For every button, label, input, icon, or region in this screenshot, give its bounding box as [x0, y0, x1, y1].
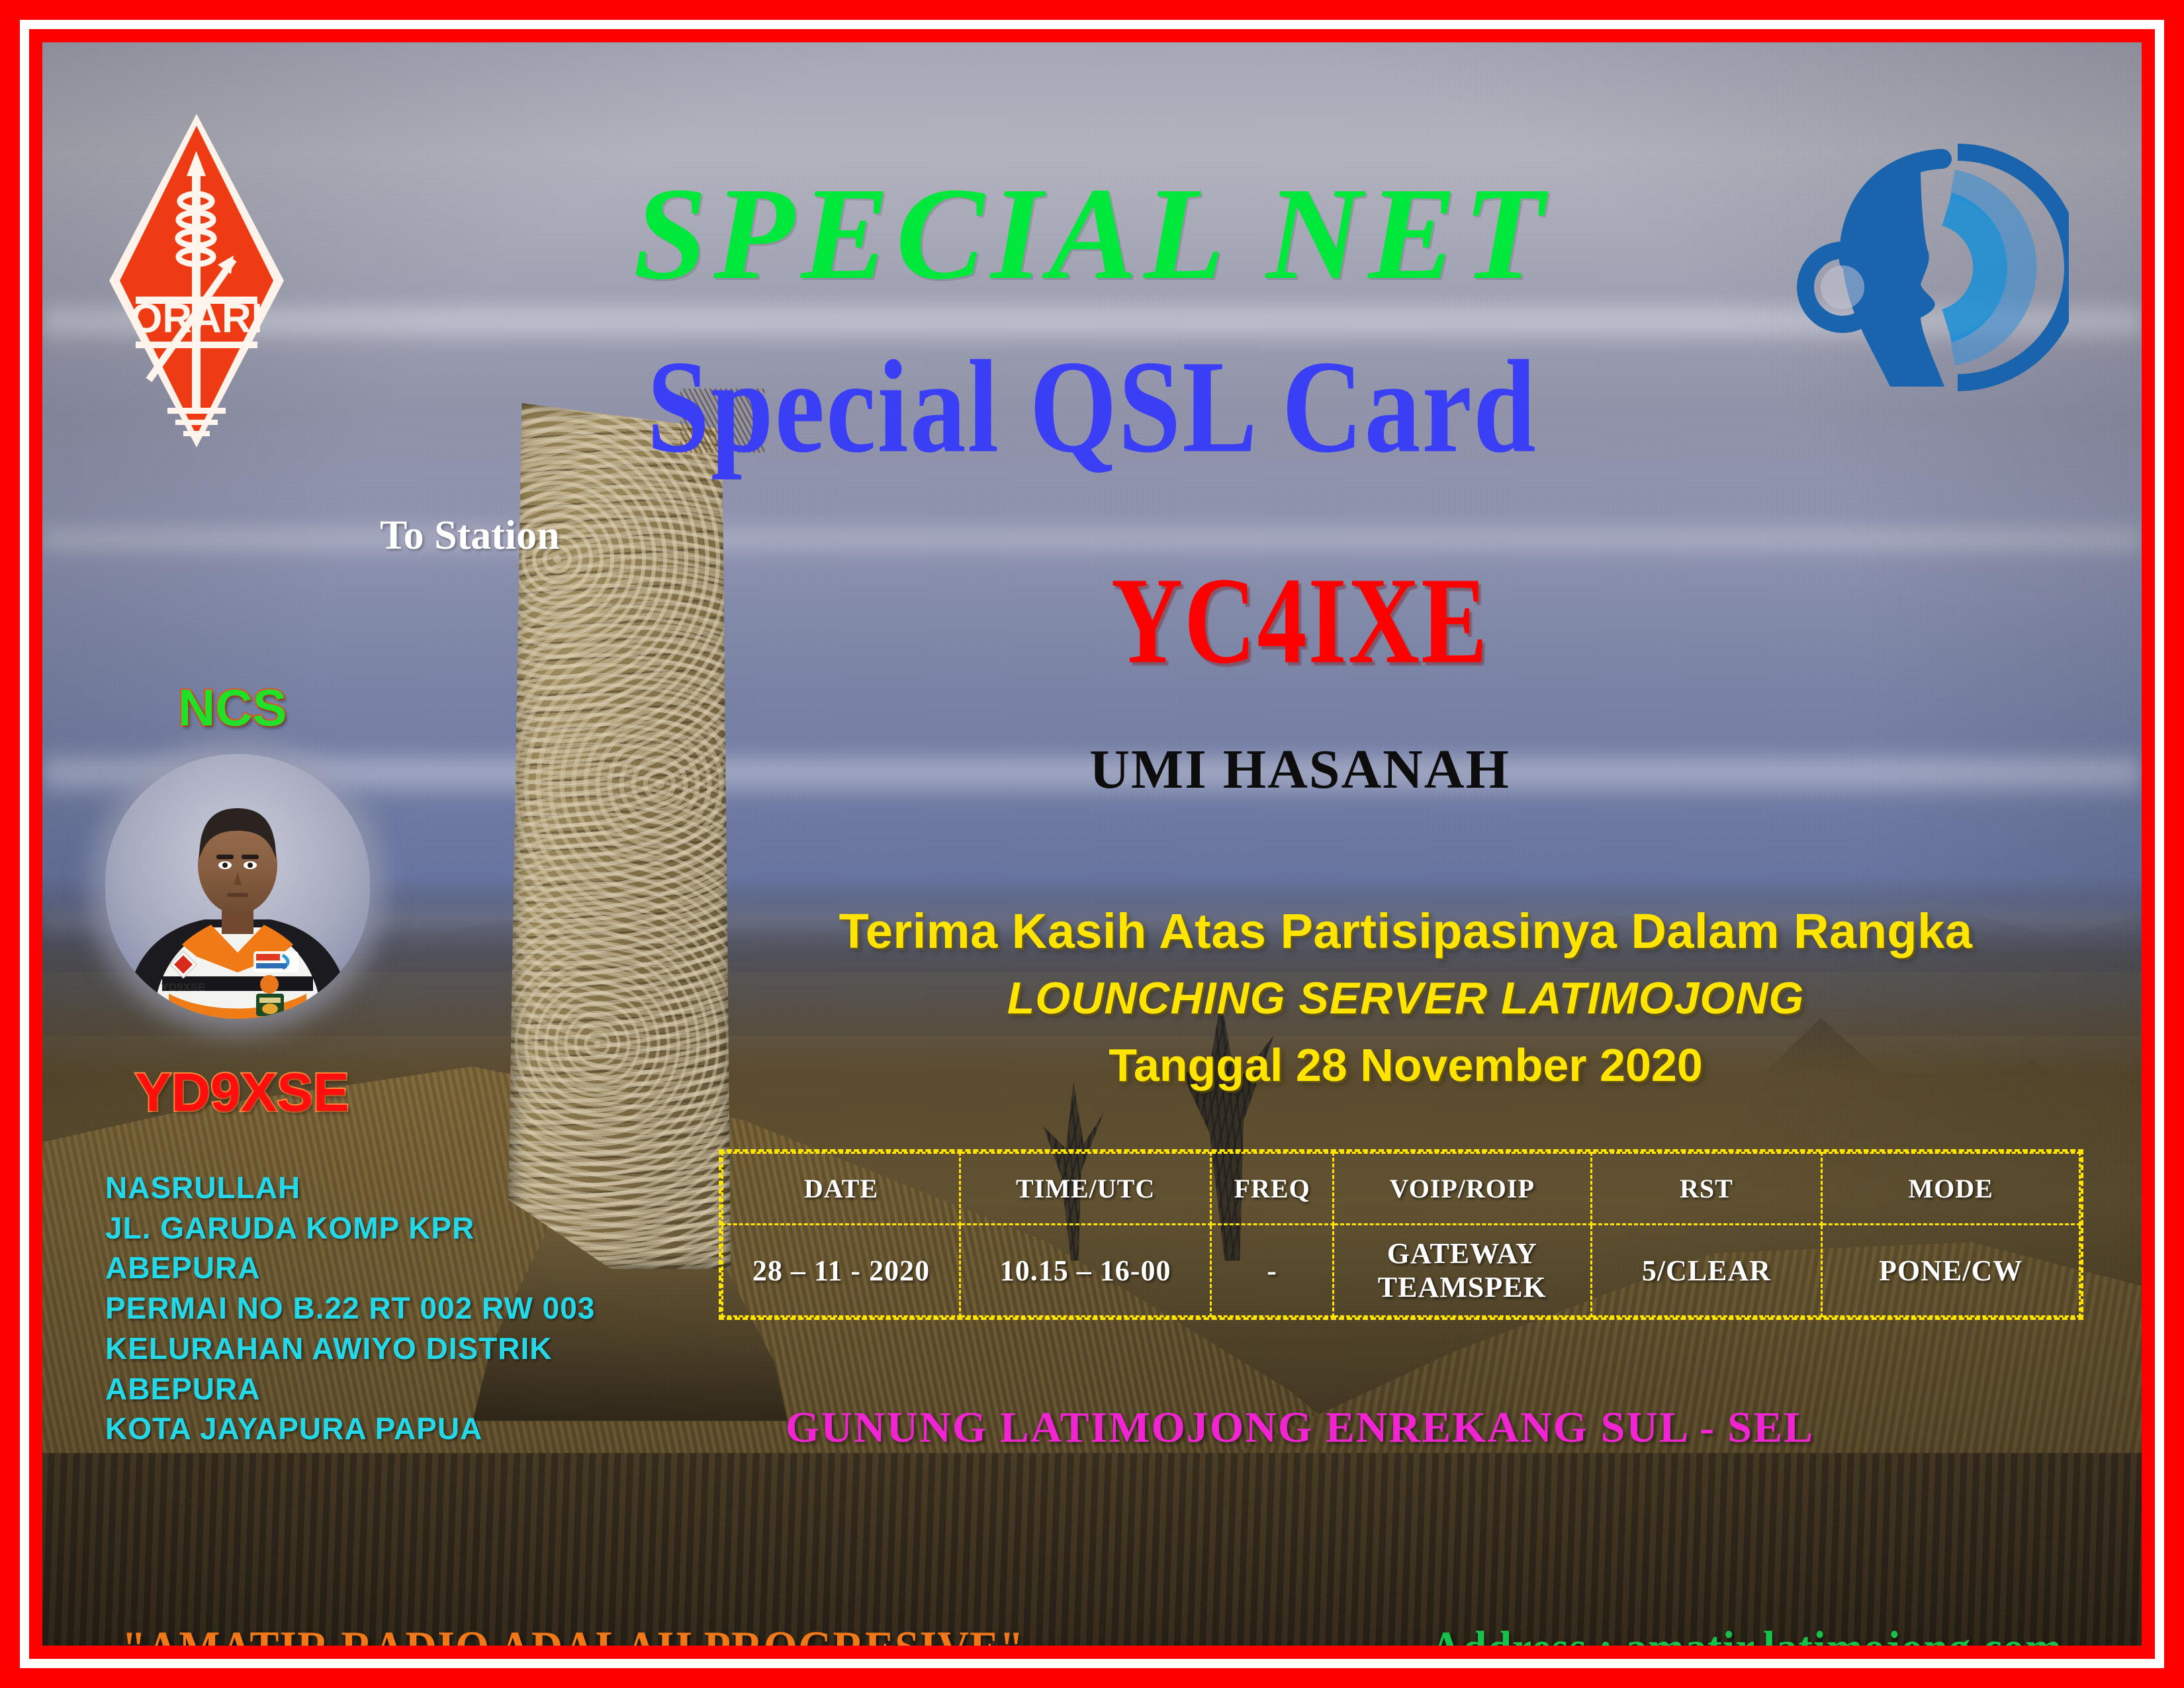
cell-date: 28 – 11 - 2020 [723, 1225, 960, 1317]
page-title: SPECIAL NET [42, 168, 2142, 301]
card-content-layer: ORARI [42, 42, 2142, 1646]
column-header-voip-roip: VOIP/ROIP [1333, 1153, 1591, 1225]
card-border-white-gap: ORARI [20, 20, 2164, 1668]
cell-voip-line-1: GATEWAY [1334, 1237, 1590, 1270]
cell-time: 10.15 – 16-00 [960, 1225, 1210, 1317]
recipient-callsign: YC4IXE [837, 559, 1763, 683]
event-title-line: LOUNCHING SERVER LATIMOJONG [717, 972, 2094, 1024]
cell-voip-line-2: TEAMSPEK [1334, 1270, 1590, 1304]
column-header-date: DATE [723, 1153, 960, 1225]
address-line: PERMAI NO B.22 RT 002 RW 003 [105, 1288, 595, 1329]
thanks-line-1: Terima Kasih Atas Partisipasinya Dalam R… [717, 903, 2094, 959]
table-row: 28 – 11 - 2020 10.15 – 16-00 - GATEWAY T… [723, 1225, 2080, 1317]
cell-mode: PONE/CW [1822, 1225, 2080, 1317]
qso-log-table: DATE TIME/UTC FREQ VOIP/ROIP RST MODE 28… [719, 1149, 2083, 1320]
address-line: ABEPURA [105, 1369, 595, 1409]
address-line: JL. GARUDA KOMP KPR [105, 1208, 595, 1248]
recipient-operator-name: UMI HASANAH [837, 737, 1763, 802]
column-header-rst: RST [1591, 1153, 1822, 1225]
ncs-label: NCS [178, 678, 287, 738]
cell-freq: - [1211, 1225, 1334, 1317]
card-background-photo: ORARI [42, 42, 2142, 1646]
column-header-freq: FREQ [1211, 1153, 1334, 1225]
table-header-row: DATE TIME/UTC FREQ VOIP/ROIP RST MODE [723, 1153, 2080, 1225]
cell-rst: 5/CLEAR [1591, 1225, 1822, 1317]
card-border-inner-red: ORARI [29, 29, 2155, 1659]
orari-logo-text: ORARI [130, 296, 263, 342]
address-line: KOTA JAYAPURA PAPUA [105, 1409, 595, 1449]
website-address: Address : amatir.latimojong.com [1430, 1621, 2062, 1646]
mountain-location-line: GUNUNG LATIMOJONG ENREKANG SUL - SEL [704, 1403, 1895, 1453]
cell-voip-roip: GATEWAY TEAMSPEK [1333, 1225, 1591, 1317]
ncs-callsign: YD9XSE [135, 1062, 349, 1124]
address-line: NASRULLAH [105, 1168, 595, 1208]
address-line: ABEPURA [105, 1248, 595, 1288]
page-subtitle: Special QSL Card [42, 340, 2142, 473]
column-header-time: TIME/UTC [960, 1153, 1210, 1225]
address-line: KELURAHAN AWIYO DISTRIK [105, 1329, 595, 1369]
qsl-card: ORARI [0, 0, 2184, 1688]
svg-text:YD9XSE: YD9XSE [161, 981, 205, 994]
column-header-mode: MODE [1822, 1153, 2080, 1225]
to-station-label: To Station [380, 512, 560, 559]
event-date-line: Tanggal 28 November 2020 [717, 1039, 2094, 1092]
ncs-operator-photo: YD9XSE [105, 754, 370, 1019]
club-motto: "AMATIR RADIO ADALAH PROGRESIVE" [122, 1621, 1024, 1646]
sender-address-block: NASRULLAH JL. GARUDA KOMP KPR ABEPURA PE… [105, 1168, 595, 1449]
